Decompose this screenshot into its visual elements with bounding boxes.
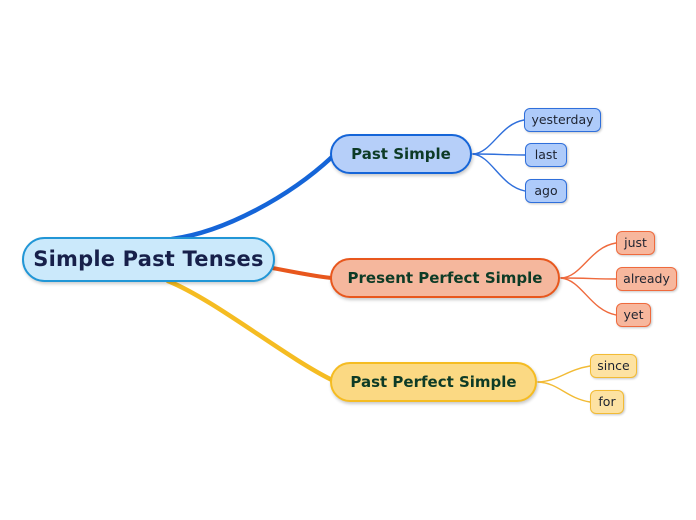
leaf-node-already[interactable]: already xyxy=(616,267,677,291)
leaf-node-yesterday[interactable]: yesterday xyxy=(524,108,601,132)
leaf-node-for[interactable]: for xyxy=(590,390,624,414)
connector-past-simple-to-yesterday xyxy=(473,120,524,154)
connector-past-perfect-to-for xyxy=(538,382,590,402)
branch-node-past-perfect-simple[interactable]: Past Perfect Simple xyxy=(330,362,537,402)
mind-map-canvas: Simple Past Tenses Past Simple yesterday… xyxy=(0,0,696,520)
connector-root-to-past-perfect xyxy=(168,281,332,380)
connector-past-simple-to-ago xyxy=(473,154,525,191)
connector-present-perfect-to-just xyxy=(561,243,616,278)
connector-present-perfect-to-yet xyxy=(561,278,616,315)
leaf-node-ago[interactable]: ago xyxy=(525,179,567,203)
connector-present-perfect-to-already xyxy=(561,278,616,279)
leaf-node-since[interactable]: since xyxy=(590,354,637,378)
connector-root-to-past-simple xyxy=(172,157,332,239)
branch-node-present-perfect-simple[interactable]: Present Perfect Simple xyxy=(330,258,560,298)
branch-node-past-simple[interactable]: Past Simple xyxy=(330,134,472,174)
root-node-simple-past-tenses[interactable]: Simple Past Tenses xyxy=(22,237,275,282)
leaf-node-last[interactable]: last xyxy=(525,143,567,167)
leaf-node-yet[interactable]: yet xyxy=(616,303,651,327)
connector-past-simple-to-last xyxy=(473,154,525,155)
connector-root-to-present-perfect xyxy=(272,268,332,278)
leaf-node-just[interactable]: just xyxy=(616,231,655,255)
connector-past-perfect-to-since xyxy=(538,366,590,382)
